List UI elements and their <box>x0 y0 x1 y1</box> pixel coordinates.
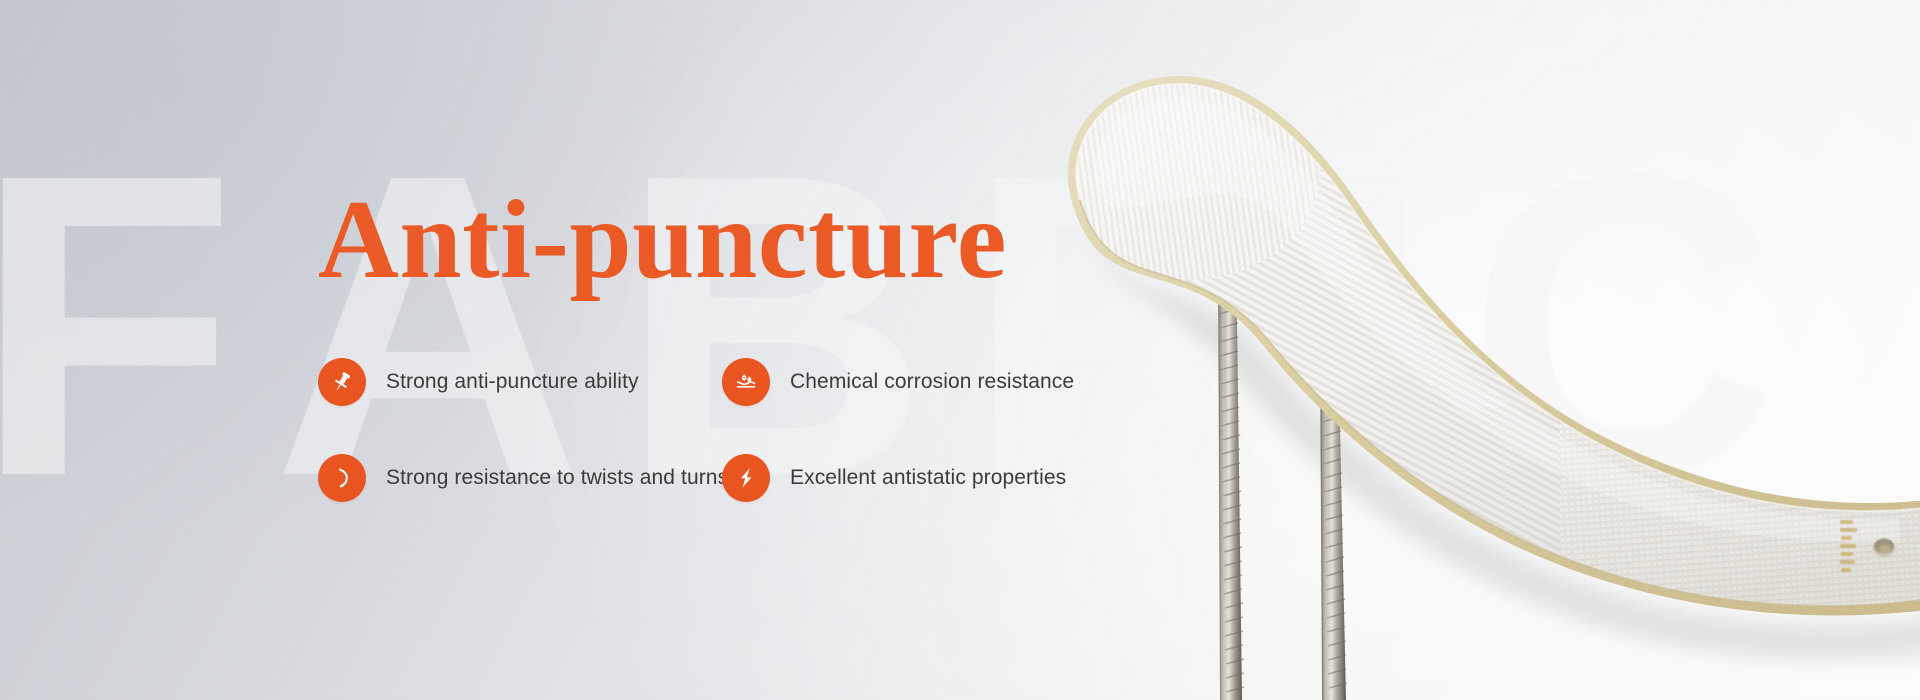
chemical-drops-icon <box>722 358 770 406</box>
product-photo-hit-area <box>1000 40 1920 700</box>
feature-item-chemical-resistance[interactable]: Chemical corrosion resistance <box>722 358 1074 406</box>
watermark-letter-f: F <box>0 111 273 541</box>
lightning-bolt-icon <box>722 454 770 502</box>
banner-content: Anti-puncture Strong anti-puncture abili… <box>318 184 1074 502</box>
twist-arrow-icon <box>318 454 366 502</box>
pushpin-icon <box>318 358 366 406</box>
page-title: Anti-puncture <box>318 184 1074 296</box>
feature-label-anti-puncture: Strong anti-puncture ability <box>386 370 639 394</box>
feature-item-twist-resistance[interactable]: Strong resistance to twists and turns <box>318 454 722 502</box>
feature-list: Strong anti-puncture ability Chemical co… <box>318 358 1074 502</box>
watermark-letter-f-hi: F <box>0 111 273 541</box>
feature-label-twist-resistance: Strong resistance to twists and turns <box>386 466 728 490</box>
feature-item-anti-puncture[interactable]: Strong anti-puncture ability <box>318 358 722 406</box>
feature-label-antistatic: Excellent antistatic properties <box>790 466 1066 490</box>
feature-item-antistatic[interactable]: Excellent antistatic properties <box>722 454 1074 502</box>
feature-label-chemical-resistance: Chemical corrosion resistance <box>790 370 1074 394</box>
anti-puncture-banner: F A B R I C F A B R I C <box>0 0 1920 700</box>
